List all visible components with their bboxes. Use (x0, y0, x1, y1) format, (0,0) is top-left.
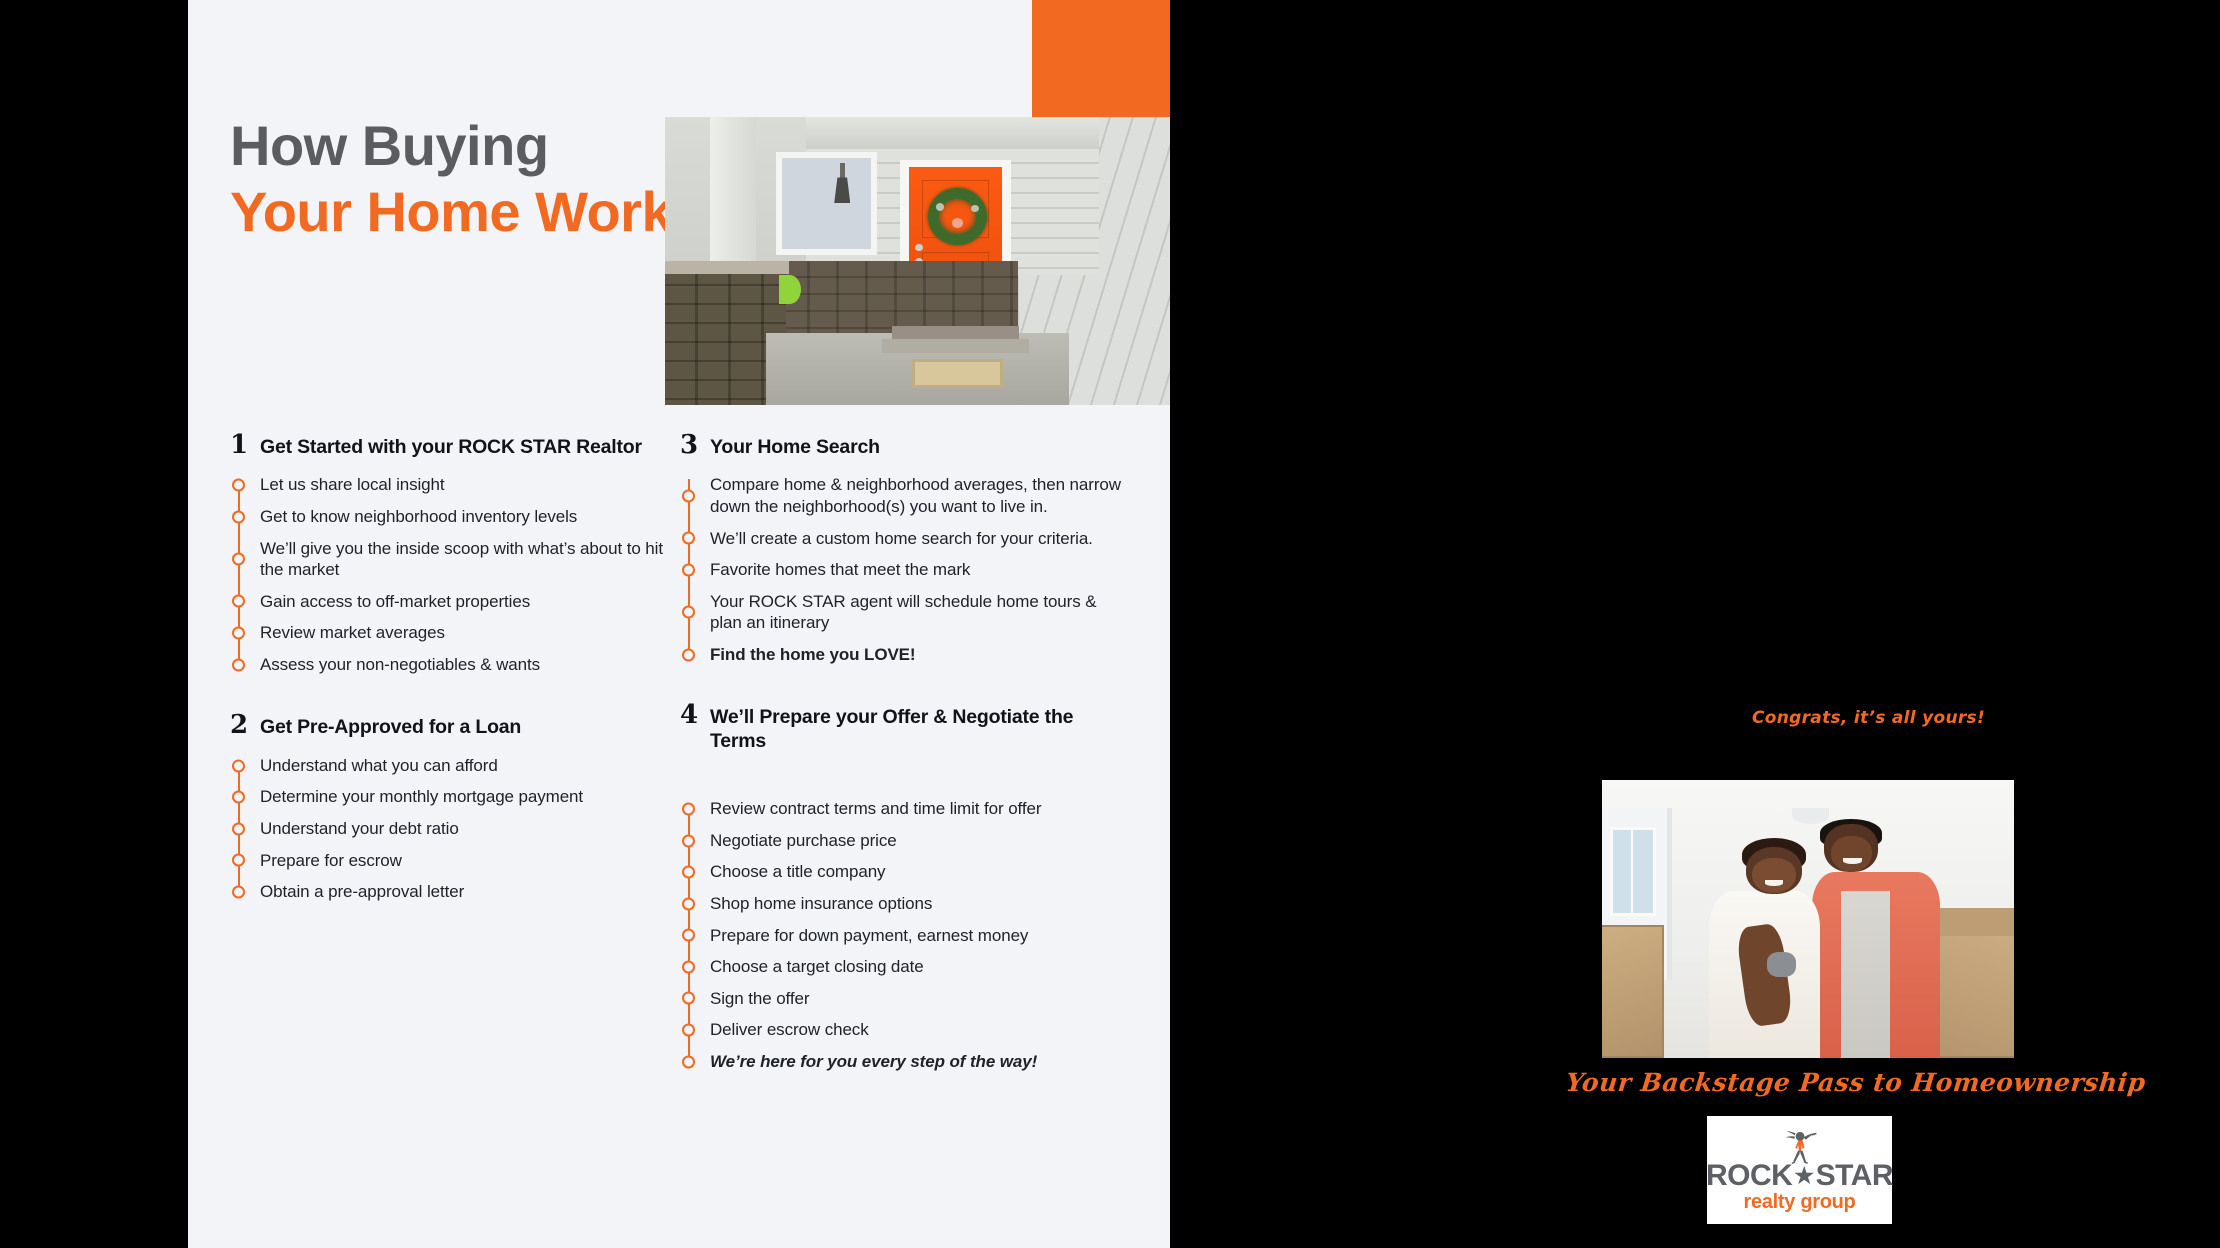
timeline-dot-icon (232, 627, 245, 640)
timeline-dot-icon (682, 897, 695, 910)
step-4-item-7: Sign the offer (710, 988, 809, 1010)
list-item: Let us share local insight (260, 469, 680, 501)
step-4-title: We’ll Prepare your Offer & Negotiate the… (710, 706, 1130, 753)
step-4-item-8: Deliver escrow check (710, 1019, 869, 1041)
list-item: We’ll create a custom home search for yo… (710, 523, 1130, 555)
list-item: Review contract terms and time limit for… (710, 793, 1130, 825)
steps-container: 1 Get Started with your ROCK STAR Realto… (230, 432, 1130, 1081)
timeline-dot-icon (232, 791, 245, 804)
step-3-item-1: Compare home & neighborhood averages, th… (710, 474, 1130, 517)
brand-tagline: Your Backstage Pass to Homeownership (1564, 1068, 2037, 1097)
list-item: Choose a title company (710, 856, 1130, 888)
step-2-item-1: Understand what you can afford (260, 755, 498, 777)
step-1-timeline: Let us share local insight Get to know n… (230, 469, 680, 680)
steps-column-left: 1 Get Started with your ROCK STAR Realto… (230, 432, 680, 1081)
list-item: Assess your non-negotiables & wants (260, 649, 680, 681)
timeline-dot-icon (232, 479, 245, 492)
timeline-dot-icon (232, 759, 245, 772)
timeline-dot-icon (682, 803, 695, 816)
step-1-number: 1 (230, 432, 249, 458)
logo-subtitle: realty group (1744, 1192, 1856, 1212)
timeline-dot-icon (232, 822, 245, 835)
spacer (230, 684, 680, 712)
list-item: Understand what you can afford (260, 750, 680, 782)
step-3-item-2: We’ll create a custom home search for yo… (710, 528, 1093, 550)
step-1-item-5: Review market averages (260, 622, 445, 644)
timeline-dot-icon (682, 960, 695, 973)
list-item: Negotiate purchase price (710, 825, 1130, 857)
step-1-item-4: Gain access to off-market properties (260, 591, 530, 613)
list-item: Sign the offer (710, 983, 1130, 1015)
step-3-timeline: Compare home & neighborhood averages, th… (680, 469, 1130, 670)
step-3-item-3: Favorite homes that meet the mark (710, 559, 970, 581)
step-3-item-5: Find the home you LOVE! (710, 644, 915, 666)
timeline-dot-icon (682, 929, 695, 942)
timeline-dot-icon (682, 866, 695, 879)
front-door-photo (665, 117, 1170, 405)
dancing-person-icon (1770, 1129, 1830, 1165)
step-2-item-5: Obtain a pre-approval letter (260, 881, 464, 903)
step-4-item-3: Choose a title company (710, 861, 885, 883)
list-item: Shop home insurance options (710, 888, 1130, 920)
list-item: Compare home & neighborhood averages, th… (710, 469, 1130, 522)
step-4: 4 We’ll Prepare your Offer & Negotiate t… (680, 702, 1130, 1077)
title-line-1: How Buying (230, 118, 703, 174)
step-4-item-5: Prepare for down payment, earnest money (710, 925, 1028, 947)
list-item: Obtain a pre-approval letter (260, 876, 680, 908)
timeline-dot-icon (682, 606, 695, 619)
timeline-dot-icon (682, 1024, 695, 1037)
star-icon: ★ (1794, 1165, 1813, 1187)
timeline-dot-icon (682, 563, 695, 576)
step-1: 1 Get Started with your ROCK STAR Realto… (230, 432, 680, 680)
step-1-item-2: Get to know neighborhood inventory level… (260, 506, 577, 528)
timeline-dot-icon (682, 834, 695, 847)
title-line-2: Your Home Works (230, 182, 703, 242)
list-item: Understand your debt ratio (260, 813, 680, 845)
list-item: Your ROCK STAR agent will schedule home … (710, 586, 1130, 639)
timeline-dot-icon (682, 532, 695, 545)
step-2-item-4: Prepare for escrow (260, 850, 402, 872)
step-4-item-9: We’re here for you every step of the way… (710, 1051, 1037, 1073)
list-item: We’ll give you the inside scoop with wha… (260, 533, 680, 586)
congrats-headline: Congrats, it’s all yours! (1752, 708, 1985, 728)
step-3-item-4: Your ROCK STAR agent will schedule home … (710, 591, 1130, 634)
step-4-timeline: Review contract terms and time limit for… (680, 793, 1130, 1077)
list-item: Prepare for down payment, earnest money (710, 920, 1130, 952)
timeline-dot-icon (682, 489, 695, 502)
step-3-title: Your Home Search (710, 436, 880, 459)
step-4-item-2: Negotiate purchase price (710, 830, 897, 852)
step-4-header: 4 We’ll Prepare your Offer & Negotiate t… (680, 702, 1130, 753)
step-3-header: 3 Your Home Search (680, 432, 1130, 459)
spacer (680, 674, 1130, 702)
couple-with-keys-photo (1602, 780, 2014, 1058)
step-3: 3 Your Home Search Compare home & neighb… (680, 432, 1130, 670)
orange-accent-block (1032, 0, 1170, 117)
step-4-item-1: Review contract terms and time limit for… (710, 798, 1041, 820)
step-2-title: Get Pre-Approved for a Loan (260, 716, 521, 739)
list-item: Deliver escrow check (710, 1014, 1130, 1046)
step-2-item-2: Determine your monthly mortgage payment (260, 786, 583, 808)
list-item: Review market averages (260, 617, 680, 649)
timeline-dot-icon (232, 854, 245, 867)
step-1-header: 1 Get Started with your ROCK STAR Realto… (230, 432, 680, 459)
timeline-dot-icon (682, 992, 695, 1005)
timeline-dot-icon (682, 1055, 695, 1068)
screenshot-canvas: How Buying Your Home Works (0, 0, 2220, 1248)
timeline-dot-icon (232, 553, 245, 566)
list-item: Favorite homes that meet the mark (710, 554, 1130, 586)
step-2-number: 2 (230, 712, 249, 738)
timeline-dot-icon (682, 648, 695, 661)
step-1-title: Get Started with your ROCK STAR Realtor (260, 436, 642, 459)
steps-column-right: 3 Your Home Search Compare home & neighb… (680, 432, 1130, 1081)
document-page: How Buying Your Home Works (188, 0, 1170, 1248)
page-title: How Buying Your Home Works (230, 118, 703, 242)
list-item: Gain access to off-market properties (260, 586, 680, 618)
step-1-item-6: Assess your non-negotiables & wants (260, 654, 540, 676)
timeline-dot-icon (232, 885, 245, 898)
spacer (680, 763, 1130, 793)
timeline-dot-icon (232, 595, 245, 608)
step-3-number: 3 (680, 432, 699, 458)
list-item: Find the home you LOVE! (710, 639, 1130, 671)
step-2-timeline: Understand what you can afford Determine… (230, 750, 680, 908)
rockstar-realty-logo: ROCK ★ STAR realty group (1707, 1116, 1892, 1224)
step-4-number: 4 (680, 702, 699, 728)
step-4-item-6: Choose a target closing date (710, 956, 924, 978)
timeline-dot-icon (232, 658, 245, 671)
step-2: 2 Get Pre-Approved for a Loan Understand… (230, 712, 680, 907)
step-1-item-1: Let us share local insight (260, 474, 445, 496)
step-4-item-4: Shop home insurance options (710, 893, 932, 915)
step-2-item-3: Understand your debt ratio (260, 818, 459, 840)
step-2-header: 2 Get Pre-Approved for a Loan (230, 712, 680, 739)
list-item: Prepare for escrow (260, 845, 680, 877)
timeline-dot-icon (232, 510, 245, 523)
step-1-item-3: We’ll give you the inside scoop with wha… (260, 538, 680, 581)
list-item: We’re here for you every step of the way… (710, 1046, 1130, 1078)
list-item: Get to know neighborhood inventory level… (260, 501, 680, 533)
list-item: Determine your monthly mortgage payment (260, 781, 680, 813)
list-item: Choose a target closing date (710, 951, 1130, 983)
